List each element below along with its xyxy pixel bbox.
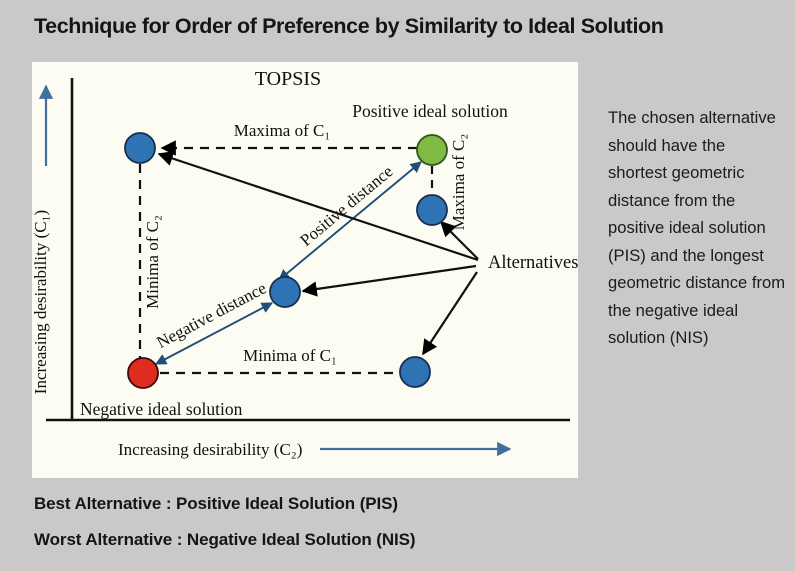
x-axis-label: Increasing desirability (C₂) bbox=[118, 440, 302, 459]
node-middle-alternative[interactable] bbox=[270, 277, 300, 307]
positive-ideal-solution-label: Positive ideal solution bbox=[352, 101, 508, 121]
minima-c2-label: Minima of C₂ bbox=[143, 215, 162, 309]
page-title: Technique for Order of Preference by Sim… bbox=[34, 14, 754, 39]
negative-ideal-solution-label: Negative ideal solution bbox=[80, 399, 243, 419]
node-upper-right-alternative[interactable] bbox=[417, 195, 447, 225]
topsis-diagram-svg: TOPSIS Increasing desirability (C₁) Incr… bbox=[32, 62, 578, 478]
y-axis-label: Increasing desirability (C₁) bbox=[32, 210, 50, 394]
node-top-left-alternative[interactable] bbox=[125, 133, 155, 163]
chart-title: TOPSIS bbox=[255, 68, 321, 90]
alternatives-label: Alternatives bbox=[488, 253, 578, 273]
topsis-diagram-panel: TOPSIS Increasing desirability (C₁) Incr… bbox=[32, 62, 578, 478]
node-negative-ideal-solution[interactable] bbox=[128, 358, 158, 388]
node-lower-right-alternative[interactable] bbox=[400, 357, 430, 387]
slide-root: Technique for Order of Preference by Sim… bbox=[0, 0, 795, 571]
maxima-c2-label: Maxima of C₂ bbox=[449, 134, 468, 231]
caption-best-alternative: Best Alternative : Positive Ideal Soluti… bbox=[34, 494, 398, 514]
minima-c1-label: Minima of C₁ bbox=[243, 346, 337, 365]
maxima-c1-label: Maxima of C₁ bbox=[234, 121, 331, 140]
caption-worst-alternative: Worst Alternative : Negative Ideal Solut… bbox=[34, 530, 415, 550]
node-positive-ideal-solution[interactable] bbox=[417, 135, 447, 165]
description-text: The chosen alternative should have the s… bbox=[608, 104, 788, 352]
